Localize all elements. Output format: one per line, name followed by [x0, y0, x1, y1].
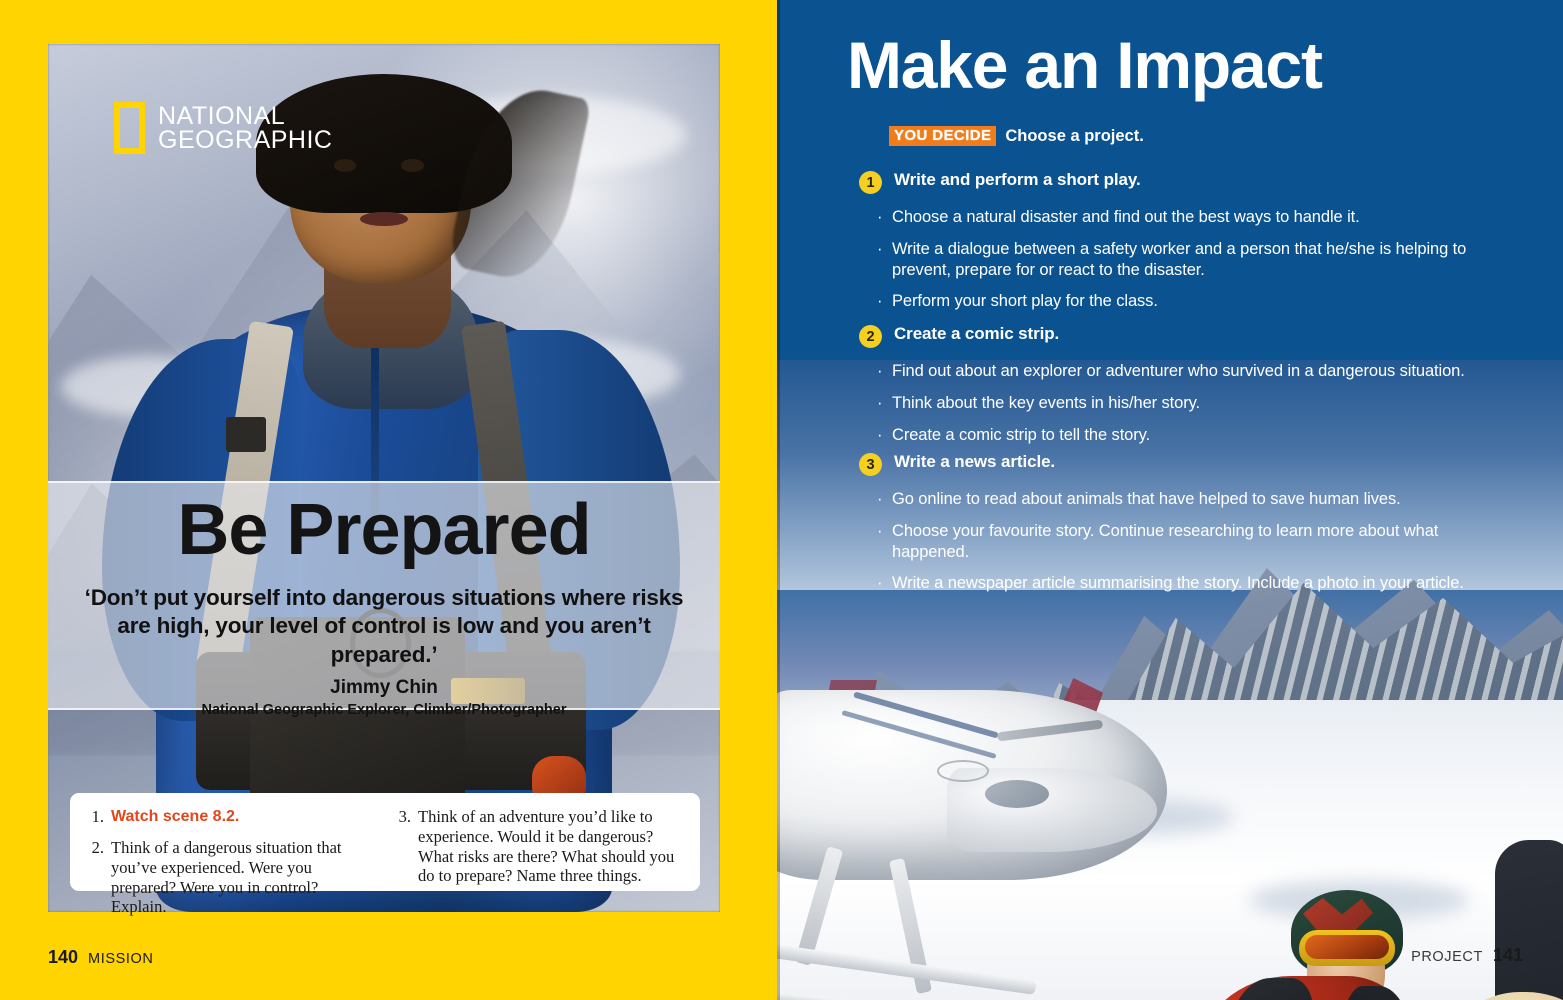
question-item: 3. Think of an adventure you’d like to e…: [393, 807, 682, 886]
list-item-text: Go online to read about animals that hav…: [892, 489, 1401, 510]
helicopter-window: [985, 780, 1049, 808]
list-item: · Find out about an explorer or adventur…: [877, 361, 1479, 382]
bullet-dot-icon: ·: [877, 489, 885, 510]
ng-wordmark: NATIONAL GEOGRAPHIC: [158, 104, 332, 152]
list-item: · Perform your short play for the class.: [877, 291, 1479, 312]
question-text: Think of a dangerous situation that you’…: [111, 838, 375, 917]
bullet-dot-icon: ·: [877, 239, 885, 281]
project-1-header[interactable]: 1 Write and perform a short play.: [859, 170, 1479, 194]
project-3-title: Write a news article.: [894, 452, 1055, 472]
question-number: 3.: [393, 807, 411, 886]
list-item: · Choose your favourite story. Continue …: [877, 521, 1479, 563]
bullet-dot-icon: ·: [877, 361, 885, 382]
climber-eye-left: [334, 159, 357, 172]
rescue-dog: [1389, 992, 1563, 1000]
climber-figure: [48, 44, 720, 912]
project-2: 2 Create a comic strip. · Find out about…: [859, 324, 1479, 456]
question-item: 1. Watch scene 8.2.: [86, 807, 375, 827]
list-item-text: Create a comic strip to tell the story.: [892, 425, 1150, 446]
project-2-header[interactable]: 2 Create a comic strip.: [859, 324, 1479, 348]
national-geographic-logo: NATIONAL GEOGRAPHIC: [114, 102, 332, 154]
list-item: · Go online to read about animals that h…: [877, 489, 1479, 510]
helicopter-nose: [947, 768, 1157, 852]
left-page-footer: 140 MISSION: [48, 947, 153, 968]
right-page-number: 141: [1493, 945, 1523, 966]
left-page-section-label: MISSION: [88, 951, 153, 967]
list-item-text: Think about the key events in his/her st…: [892, 393, 1200, 414]
ng-logo-line1: NATIONAL: [158, 104, 332, 128]
ski-goggles-lens: [1305, 935, 1389, 959]
bullet-dot-icon: ·: [877, 291, 885, 312]
questions-column-left: 1. Watch scene 8.2. 2. Think of a danger…: [86, 807, 375, 891]
ng-logo-line2: GEOGRAPHIC: [158, 128, 332, 152]
question-number: 1.: [86, 807, 104, 827]
choose-a-project-label: Choose a project.: [1005, 127, 1143, 146]
list-item-text: Choose a natural disaster and find out t…: [892, 207, 1360, 228]
bullet-dot-icon: ·: [877, 425, 885, 446]
project-2-title: Create a comic strip.: [894, 324, 1059, 344]
title-overlay-band: Be Prepared ‘Don’t put yourself into dan…: [48, 481, 720, 710]
list-item-text: Find out about an explorer or adventurer…: [892, 361, 1465, 382]
list-item: · Write a newspaper article summarising …: [877, 573, 1479, 594]
ng-yellow-rectangle-icon: [114, 102, 145, 154]
project-1-bullets: · Choose a natural disaster and find out…: [877, 207, 1479, 312]
list-item: · Write a dialogue between a safety work…: [877, 239, 1479, 281]
project-3-number-badge: 3: [859, 453, 882, 476]
left-page-number: 140: [48, 947, 78, 968]
project-2-bullets: · Find out about an explorer or adventur…: [877, 361, 1479, 445]
dog-head: [1451, 992, 1563, 1000]
bullet-dot-icon: ·: [877, 521, 885, 563]
list-item-text: Write a newspaper article summarising th…: [892, 573, 1464, 594]
list-item-text: Choose your favourite story. Continue re…: [892, 521, 1479, 563]
list-item-text: Perform your short play for the class.: [892, 291, 1158, 312]
list-item: · Choose a natural disaster and find out…: [877, 207, 1479, 228]
project-1-number-badge: 1: [859, 171, 882, 194]
right-edge-person: [1495, 840, 1563, 1000]
right-page-footer: PROJECT 141: [1411, 945, 1523, 966]
you-decide-row: YOU DECIDE Choose a project.: [889, 126, 1144, 146]
project-3: 3 Write a news article. · Go online to r…: [859, 452, 1479, 605]
right-page-section-label: PROJECT: [1411, 949, 1483, 965]
list-item-text: Write a dialogue between a safety worker…: [892, 239, 1479, 281]
page-gutter-divider: [777, 0, 780, 1000]
backpack-buckle: [226, 417, 266, 452]
quote-author-role: National Geographic Explorer, Climber/Ph…: [48, 702, 720, 718]
project-1-title: Write and perform a short play.: [894, 170, 1141, 190]
list-item: · Think about the key events in his/her …: [877, 393, 1479, 414]
bullet-dot-icon: ·: [877, 393, 885, 414]
bullet-dot-icon: ·: [877, 207, 885, 228]
right-page-title: Make an Impact: [847, 32, 1322, 98]
you-decide-badge: YOU DECIDE: [889, 126, 996, 146]
right-page: Make an Impact YOU DECIDE Choose a proje…: [777, 0, 1563, 1000]
bullet-dot-icon: ·: [877, 573, 885, 594]
left-page: NATIONAL GEOGRAPHIC Be Prepared ‘Don’t p…: [0, 0, 777, 1000]
quote-author: Jimmy Chin: [48, 677, 720, 699]
climber-eye-right: [401, 159, 424, 172]
question-item: 2. Think of a dangerous situation that y…: [86, 838, 375, 917]
page-title: Be Prepared: [48, 493, 720, 568]
textbook-spread: NATIONAL GEOGRAPHIC Be Prepared ‘Don’t p…: [0, 0, 1563, 1000]
questions-card: 1. Watch scene 8.2. 2. Think of a danger…: [70, 793, 700, 891]
list-item: · Create a comic strip to tell the story…: [877, 425, 1479, 446]
project-3-header[interactable]: 3 Write a news article.: [859, 452, 1479, 476]
question-text-watch-scene[interactable]: Watch scene 8.2.: [111, 807, 239, 827]
project-1: 1 Write and perform a short play. · Choo…: [859, 170, 1479, 323]
question-number: 2.: [86, 838, 104, 917]
project-3-bullets: · Go online to read about animals that h…: [877, 489, 1479, 594]
project-2-number-badge: 2: [859, 325, 882, 348]
climber-photo: NATIONAL GEOGRAPHIC Be Prepared ‘Don’t p…: [48, 44, 720, 912]
question-text: Think of an adventure you’d like to expe…: [418, 807, 682, 886]
helicopter-hatch: [937, 760, 989, 782]
explorer-quote: ‘Don’t put yourself into dangerous situa…: [74, 584, 694, 669]
questions-column-right: 3. Think of an adventure you’d like to e…: [393, 807, 682, 891]
